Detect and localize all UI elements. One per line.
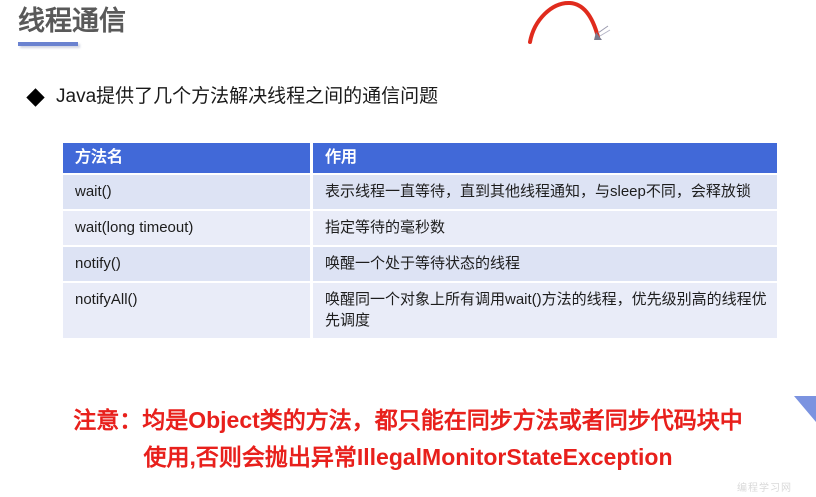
warning-note: 注意：均是Object类的方法，都只能在同步方法或者同步代码块中 使用,否则会抛…	[0, 404, 816, 474]
table-header-row: 方法名 作用	[63, 143, 777, 175]
column-header-method: 方法名	[63, 143, 313, 175]
warning-line-1: 注意：均是Object类的方法，都只能在同步方法或者同步代码块中	[0, 404, 816, 437]
cell-description: 指定等待的毫秒数	[313, 211, 777, 247]
cell-description: 唤醒同一个对象上所有调用wait()方法的线程，优先级别高的线程优先调度	[313, 283, 777, 338]
warning-line-2: 使用,否则会抛出异常IllegalMonitorStateException	[0, 441, 816, 474]
cell-method: wait(long timeout)	[63, 211, 313, 247]
title-underline-bar	[18, 42, 78, 46]
red-arc-annotation	[522, 0, 632, 58]
cell-method: notify()	[63, 247, 313, 283]
cell-description: 表示线程一直等待，直到其他线程通知，与sleep不同，会释放锁	[313, 175, 777, 211]
cell-description: 唤醒一个处于等待状态的线程	[313, 247, 777, 283]
table-row: notifyAll() 唤醒同一个对象上所有调用wait()方法的线程，优先级别…	[63, 283, 777, 338]
watermark-label: 编程学习网	[737, 479, 792, 494]
table-body: wait() 表示线程一直等待，直到其他线程通知，与sleep不同，会释放锁 w…	[63, 175, 777, 338]
slide-canvas: 线程通信 Java提供了几个方法解决线程之间的通信问题 方法名 作用 wait	[0, 0, 816, 497]
page-title: 线程通信	[18, 4, 126, 38]
table-row: notify() 唤醒一个处于等待状态的线程	[63, 247, 777, 283]
table-row: wait(long timeout) 指定等待的毫秒数	[63, 211, 777, 247]
cell-method: notifyAll()	[63, 283, 313, 338]
table-row: wait() 表示线程一直等待，直到其他线程通知，与sleep不同，会释放锁	[63, 175, 777, 211]
cell-method: wait()	[63, 175, 313, 211]
column-header-description: 作用	[313, 143, 777, 175]
bullet-label: Java提供了几个方法解决线程之间的通信问题	[56, 85, 438, 109]
diamond-bullet-icon	[26, 88, 44, 106]
table-header: 方法名 作用	[63, 143, 777, 175]
bullet-line: Java提供了几个方法解决线程之间的通信问题	[29, 85, 438, 109]
methods-table: 方法名 作用 wait() 表示线程一直等待，直到其他线程通知，与sleep不同…	[63, 143, 777, 338]
